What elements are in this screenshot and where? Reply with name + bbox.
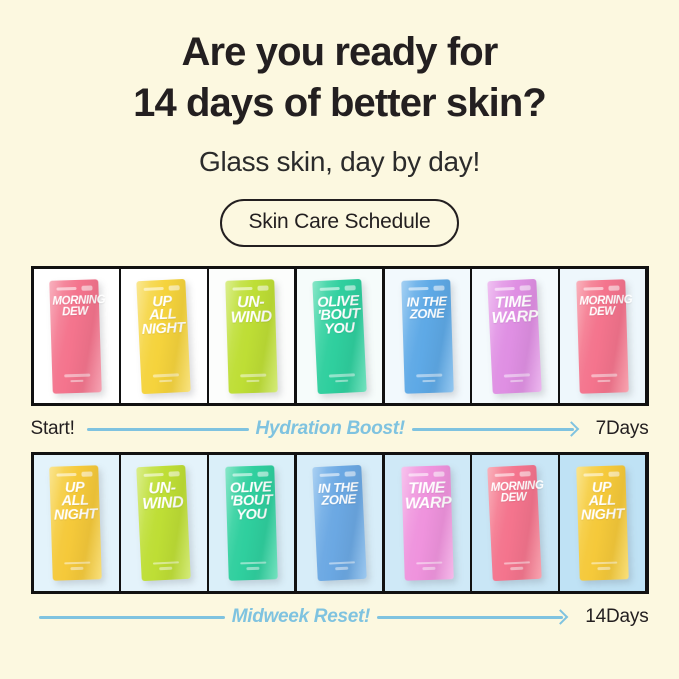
packet-footer-text (317, 373, 367, 383)
packet-name-line: WIND (140, 496, 185, 513)
packet-brand-row (408, 472, 444, 478)
brand-logo-icon (608, 286, 619, 291)
brand-logo-icon (168, 472, 179, 478)
brand-logo-icon (519, 472, 530, 478)
packet-brand-row (57, 286, 93, 292)
mask-packet[interactable]: TIMEWARP (401, 466, 454, 582)
caption-start-label: Start! (31, 418, 75, 440)
brand-wordmark-icon (144, 287, 164, 291)
mask-packet[interactable]: UPALLNIGHT (50, 466, 103, 582)
schedule-cell[interactable]: MORNINGDEW (472, 455, 557, 591)
packet-name: TIMEWARP (404, 481, 449, 512)
schedule-cell[interactable]: UPALLNIGHT (121, 269, 206, 403)
packet-brand-row (144, 472, 180, 479)
packet-description-line (64, 374, 90, 377)
packet-name-line: YOU (229, 508, 274, 523)
caption-week-2: Midweek Reset! 14Days (31, 594, 649, 640)
packet-footer-text (317, 561, 367, 571)
packet-brand-row (232, 472, 268, 478)
packet-brand-row (495, 286, 531, 293)
brand-wordmark-icon (319, 474, 339, 478)
packet-name: TIMEWARP (491, 295, 537, 327)
packet-description-line (65, 562, 91, 565)
packet-name-line: NIGHT (141, 322, 186, 338)
page-subtitle: Glass skin, day by day! (199, 146, 480, 178)
packet-name: UPALLNIGHT (53, 481, 99, 523)
packet-description-line (240, 374, 266, 377)
schedule-cell[interactable]: OLIVE'BOUTYOU (297, 269, 382, 403)
schedule-cell[interactable]: UN-WIND (121, 455, 206, 591)
brand-logo-icon (432, 286, 443, 291)
brand-logo-icon (519, 286, 530, 292)
schedule-grid-week-1: MORNINGDEWUPALLNIGHTUN-WINDOLIVE'BOUTYOU… (31, 266, 649, 406)
caption-track: Midweek Reset! (31, 606, 580, 628)
mask-packet[interactable]: IN THEZONE (312, 465, 367, 582)
packet-name: MORNINGDEW (53, 295, 98, 318)
packet-name: MORNINGDEW (491, 481, 536, 505)
packet-name-line: WARP (492, 310, 537, 327)
packet-name-line: ZONE (316, 493, 361, 507)
caption-week-1: Start! Hydration Boost! 7Days (31, 406, 649, 452)
brand-wordmark-icon (408, 474, 428, 478)
packet-brand-row (583, 286, 619, 292)
caption-hydration-boost-label: Hydration Boost! (256, 418, 405, 440)
mask-packet[interactable]: TIMEWARP (488, 279, 543, 394)
packet-description-line (504, 562, 530, 566)
brand-wordmark-icon (57, 287, 77, 291)
packet-volume-line (511, 567, 524, 570)
packet-volume-line (598, 380, 611, 383)
brand-logo-icon (81, 472, 92, 477)
packet-name-line: ZONE (404, 307, 449, 320)
packet-footer-text (492, 561, 542, 571)
packet-name-line: NIGHT (580, 508, 625, 523)
packet-name: UN-WIND (140, 481, 186, 513)
packet-brand-row (57, 472, 93, 478)
brand-logo-icon (344, 472, 355, 478)
packet-description-line (504, 374, 530, 378)
brand-logo-icon (257, 472, 268, 477)
packet-brand-row (495, 472, 531, 479)
packet-name: UPALLNIGHT (140, 295, 186, 338)
packet-name: UPALLNIGHT (579, 481, 625, 523)
caption-arrow-right-icon (377, 616, 563, 619)
packet-brand-row (408, 286, 444, 292)
mask-packet[interactable]: IN THEZONE (401, 279, 454, 393)
caption-rule-left (87, 428, 249, 431)
caption-rule-left (39, 616, 225, 619)
mask-packet[interactable]: UN-WIND (136, 465, 191, 582)
schedule-cell[interactable]: TIMEWARP (385, 455, 470, 591)
packet-footer-text (141, 561, 191, 571)
brand-wordmark-icon (584, 287, 604, 291)
packet-volume-line (71, 567, 84, 570)
schedule-grid-week-2: UPALLNIGHTUN-WINDOLIVE'BOUTYOUIN THEZONE… (31, 452, 649, 594)
cta-container: Skin Care Schedule (220, 199, 458, 247)
caption-end-label: 7Days (596, 418, 649, 440)
schedule-cell[interactable]: IN THEZONE (297, 455, 382, 591)
packet-name: OLIVE'BOUTYOU (228, 481, 274, 523)
packet-volume-line (71, 380, 84, 383)
packet-footer-text (492, 373, 542, 383)
packet-brand-row (232, 286, 268, 292)
skincare-schedule-poster: Are you ready for 14 days of better skin… (0, 0, 679, 679)
packet-volume-line (511, 380, 524, 383)
schedule-cell[interactable]: UN-WIND (209, 269, 294, 403)
schedule-cell[interactable]: UPALLNIGHT (560, 455, 645, 591)
packet-footer-text (579, 561, 629, 571)
mask-packet[interactable]: UPALLNIGHT (576, 466, 629, 582)
packet-footer-text (579, 374, 629, 384)
packet-name-line: WARP (404, 496, 449, 512)
brand-logo-icon (344, 286, 355, 292)
headline-line-2: 14 days of better skin? (133, 78, 546, 129)
caption-end-label: 14Days (585, 606, 648, 628)
packet-volume-line (335, 380, 348, 383)
brand-logo-icon (608, 472, 619, 477)
brand-wordmark-icon (232, 287, 252, 291)
packet-name-line: NIGHT (53, 508, 98, 523)
packet-name-line: DEW (53, 306, 98, 318)
mask-packet[interactable]: OLIVE'BOUTYOU (312, 279, 367, 394)
packet-brand-row (144, 286, 180, 293)
packet-description-line (329, 562, 355, 566)
schedule-cell[interactable]: MORNINGDEW (560, 269, 645, 403)
packet-footer-text (404, 374, 454, 384)
mask-packet[interactable]: MORNINGDEW (488, 465, 543, 582)
packet-name: UN-WIND (228, 295, 273, 326)
packet-description-line (153, 374, 179, 378)
packet-description-line (153, 562, 179, 566)
schedule-cell[interactable]: MORNINGDEW (34, 269, 119, 403)
packet-footer-text (141, 373, 191, 383)
page-title: Are you ready for 14 days of better skin… (133, 27, 546, 129)
packet-volume-line (247, 380, 260, 383)
mask-packet[interactable]: MORNINGDEW (576, 279, 629, 393)
packet-volume-line (335, 567, 348, 570)
caption-midweek-reset-label: Midweek Reset! (232, 606, 370, 628)
packet-footer-text (404, 561, 454, 571)
packet-brand-row (583, 472, 619, 478)
packet-footer-text (228, 561, 278, 571)
headline-line-1: Are you ready for (133, 27, 546, 78)
brand-logo-icon (81, 286, 92, 291)
packet-name: IN THEZONE (315, 481, 361, 507)
mask-packet[interactable]: OLIVE'BOUTYOU (225, 466, 278, 582)
brand-wordmark-icon (495, 474, 515, 478)
packet-description-line (591, 374, 617, 377)
packet-volume-line (598, 567, 611, 570)
schedule-cell[interactable]: OLIVE'BOUTYOU (209, 455, 294, 591)
schedule-cell[interactable]: TIMEWARP (472, 269, 557, 403)
packet-footer-text (53, 374, 103, 384)
packet-volume-line (422, 567, 435, 570)
brand-wordmark-icon (57, 474, 77, 478)
packet-brand-row (319, 286, 355, 293)
packet-description-line (591, 562, 617, 565)
mask-packet[interactable]: MORNINGDEW (50, 279, 103, 393)
packet-description-line (416, 374, 442, 377)
caption-arrow-right-icon (412, 428, 574, 431)
skin-care-schedule-button[interactable]: Skin Care Schedule (220, 199, 458, 247)
brand-wordmark-icon (144, 474, 164, 478)
packet-volume-line (422, 380, 435, 383)
packet-footer-text (53, 561, 103, 571)
brand-wordmark-icon (319, 287, 339, 291)
schedule-cell[interactable]: UPALLNIGHT (34, 455, 119, 591)
packet-description-line (416, 562, 442, 565)
mask-packet[interactable]: UN-WIND (225, 279, 278, 393)
packet-name-line: WIND (229, 310, 274, 326)
packet-footer-text (228, 374, 278, 384)
schedule-cell[interactable]: IN THEZONE (385, 269, 470, 403)
packet-name-line: YOU (317, 322, 362, 338)
packet-name: MORNINGDEW (579, 295, 624, 318)
brand-logo-icon (257, 286, 268, 291)
packet-volume-line (160, 380, 173, 383)
caption-track: Hydration Boost! (79, 418, 590, 440)
brand-logo-icon (168, 286, 179, 292)
brand-wordmark-icon (408, 287, 428, 291)
packet-brand-row (319, 472, 355, 479)
packet-name-line: DEW (580, 306, 625, 318)
brand-wordmark-icon (232, 474, 252, 478)
brand-wordmark-icon (583, 474, 603, 478)
packet-description-line (240, 562, 266, 565)
brand-wordmark-icon (495, 287, 515, 291)
packet-description-line (329, 374, 355, 378)
packet-name: OLIVE'BOUTYOU (315, 295, 361, 338)
packet-name: IN THEZONE (404, 295, 449, 321)
packet-volume-line (160, 567, 173, 570)
brand-logo-icon (432, 472, 443, 477)
packet-name-line: DEW (491, 492, 536, 505)
packet-volume-line (247, 567, 260, 570)
mask-packet[interactable]: UPALLNIGHT (136, 279, 191, 394)
